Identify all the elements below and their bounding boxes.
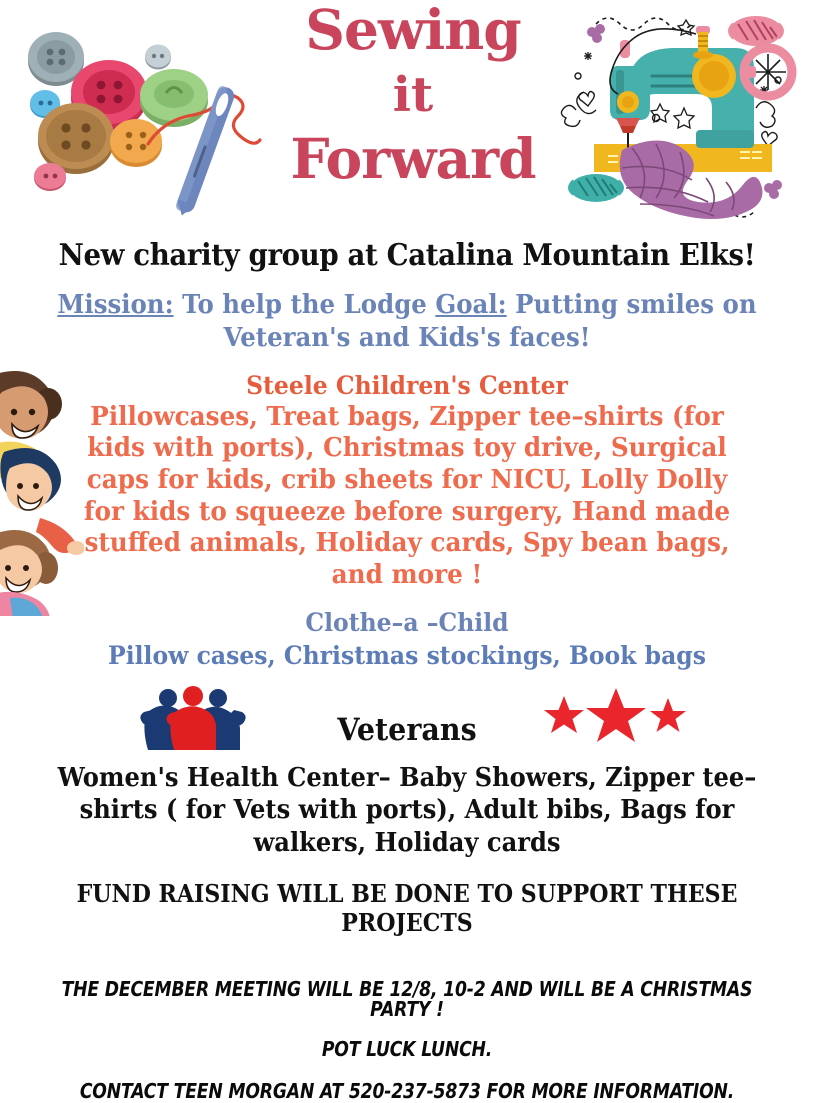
goal-label: Goal: xyxy=(435,290,506,320)
mission-text: To help the Lodge xyxy=(174,290,436,320)
footer-line-potluck: POT LUCK LUNCH. xyxy=(57,1039,757,1059)
mission-goal-statement: Mission: To help the Lodge Goal: Putting… xyxy=(24,289,789,355)
title-line-sewing: Sewing xyxy=(268,2,558,57)
flyer-title: Sewing it Forward xyxy=(268,2,558,186)
sewing-buttons-and-needle-icon xyxy=(2,6,282,228)
clothe-a-child-body: Pillow cases, Christmas stockings, Book … xyxy=(24,641,789,670)
sewing-machine-icon xyxy=(556,0,808,232)
veterans-body: Women's Health Center– Baby Showers, Zip… xyxy=(28,762,785,860)
title-line-forward: Forward xyxy=(268,131,558,186)
clothe-a-child-heading: Clothe–a –Child xyxy=(24,608,789,637)
veterans-heading: Veterans xyxy=(33,712,782,748)
footer-block: THE DECEMBER MEETING WILL BE 12/8, 10-2 … xyxy=(0,979,814,1101)
steele-body: Pillowcases, Treat bags, Zipper tee–shir… xyxy=(20,402,793,592)
fundraising-statement: FUND RAISING WILL BE DONE TO SUPPORT THE… xyxy=(33,879,782,937)
goal-text: Putting smiles on xyxy=(507,290,757,320)
mission-label: Mission: xyxy=(57,290,173,320)
title-line-it: it xyxy=(268,71,558,119)
flyer-banner: Sewing it Forward xyxy=(0,0,814,232)
mission-line-2: Veteran's and Kids's faces! xyxy=(53,322,762,355)
footer-line-meeting: THE DECEMBER MEETING WILL BE 12/8, 10-2 … xyxy=(57,979,757,1019)
steele-heading: Steele Children's Center xyxy=(24,371,789,400)
footer-line-contact: CONTACT TEEN MORGAN AT 520-237-5873 FOR … xyxy=(57,1081,757,1101)
veterans-row: Veterans xyxy=(0,682,814,760)
page-headline: New charity group at Catalina Mountain E… xyxy=(33,238,782,273)
